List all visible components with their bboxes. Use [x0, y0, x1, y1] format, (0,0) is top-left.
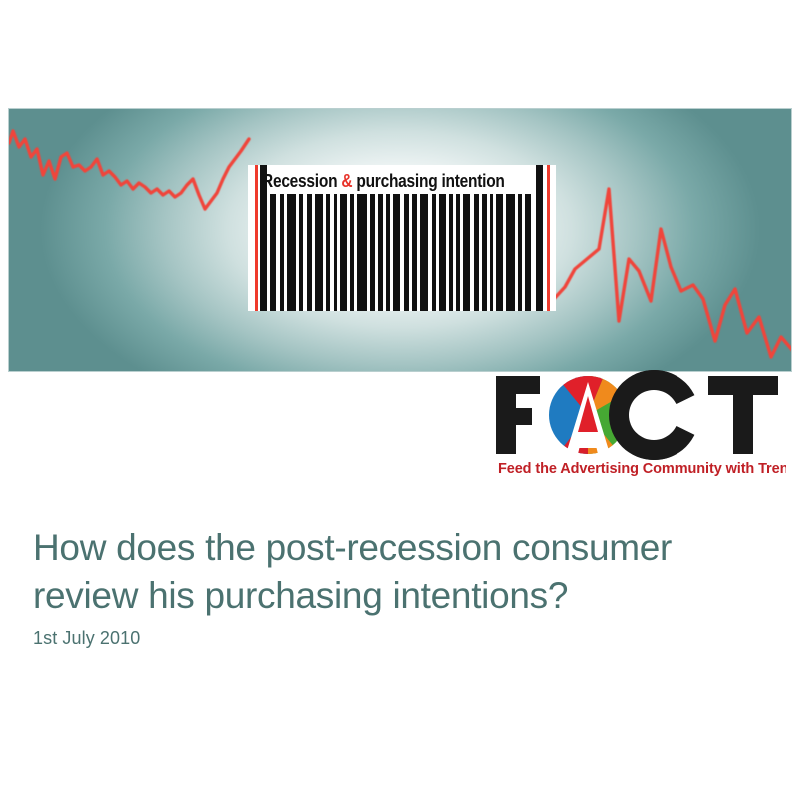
barcode-bar	[299, 194, 303, 311]
barcode-bar	[326, 194, 330, 311]
barcode-bar	[439, 194, 445, 311]
barcode-bar	[490, 194, 493, 311]
barcode-bar	[506, 194, 515, 311]
page-title-line-2: review his purchasing intentions?	[33, 572, 753, 620]
fact-logo: Feed the Advertising Community with Tren…	[494, 370, 786, 478]
logo-letter-t	[708, 376, 778, 454]
barcode-bar	[456, 194, 459, 311]
barcode-graphic: Recession & purchasing intention	[248, 165, 556, 311]
slide-root: Recession & purchasing intention	[0, 0, 800, 800]
barcode-bar	[280, 194, 284, 311]
barcode-bar	[393, 194, 401, 311]
hero-banner-image: Recession & purchasing intention	[8, 108, 792, 372]
barcode-bar	[357, 194, 367, 311]
trend-line-left	[9, 131, 249, 209]
barcode-bar	[412, 194, 416, 311]
barcode-guard-right-red	[547, 165, 550, 311]
logo-letter-c	[609, 370, 709, 460]
barcode-guard-right-black	[536, 165, 543, 311]
barcode-label-ampersand: &	[341, 172, 352, 192]
logo-letter-f	[496, 376, 540, 454]
barcode-bar	[525, 194, 530, 311]
barcode-bar	[432, 194, 436, 311]
barcode-guard-left-black	[260, 165, 267, 311]
barcode-bars	[248, 194, 556, 311]
barcode-bar	[496, 194, 502, 311]
logo-tagline: Feed the Advertising Community with Tren…	[498, 461, 786, 477]
fact-logo-svg: Feed the Advertising Community with Tren…	[494, 370, 786, 478]
barcode-bar	[270, 194, 276, 311]
barcode-bar	[378, 194, 383, 311]
barcode-label-suffix: purchasing intention	[352, 172, 504, 192]
barcode-label-prefix: Recession	[262, 172, 341, 192]
page-title: How does the post-recession consumer rev…	[33, 524, 753, 620]
barcode-guard-left-red	[255, 165, 258, 311]
barcode-bar	[334, 194, 337, 311]
barcode-bar	[315, 194, 323, 311]
slide-date: 1st July 2010	[33, 628, 140, 649]
barcode-bar	[307, 194, 312, 311]
barcode-bar	[463, 194, 471, 311]
barcode-bar	[370, 194, 374, 311]
barcode-bar	[340, 194, 346, 311]
barcode-bar	[287, 194, 296, 311]
barcode-bar	[404, 194, 409, 311]
barcode-bar	[449, 194, 453, 311]
barcode-bar	[474, 194, 479, 311]
page-title-line-1: How does the post-recession consumer	[33, 524, 753, 572]
barcode-bar	[420, 194, 429, 311]
barcode-bar	[386, 194, 389, 311]
barcode-bar	[482, 194, 486, 311]
barcode-bar	[350, 194, 354, 311]
trend-line-right	[554, 189, 792, 357]
barcode-bar	[518, 194, 522, 311]
